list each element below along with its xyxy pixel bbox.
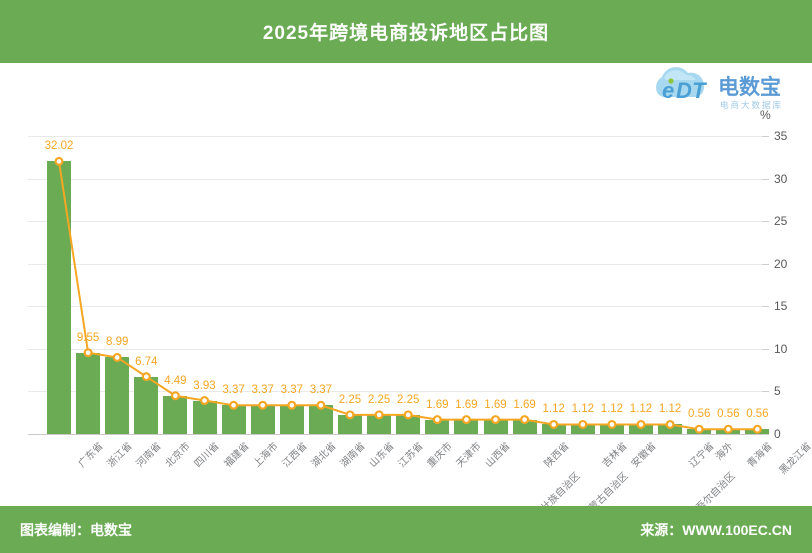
- x-axis-label: 安徽省: [627, 438, 659, 470]
- value-label: 2.25: [397, 394, 419, 406]
- bar[interactable]: [571, 424, 595, 434]
- edt-wordmark: e D T: [662, 78, 707, 103]
- bar[interactable]: [193, 401, 217, 434]
- value-label: 0.56: [746, 408, 768, 420]
- value-label: 3.37: [251, 384, 273, 396]
- bar[interactable]: [658, 424, 682, 434]
- bar[interactable]: [309, 405, 333, 434]
- value-label: 1.69: [513, 399, 535, 411]
- x-axis-label: 湖北省: [307, 438, 339, 470]
- x-axis-labels: 广东省浙江省河南省北京市四川省福建省上海市江西省湖北省湖南省山东省江苏省重庆市天…: [0, 436, 812, 502]
- value-label: 6.74: [135, 356, 157, 368]
- x-axis-label: 广东省: [74, 438, 106, 470]
- footer-compiled-by: 图表编制：电数宝: [20, 520, 132, 540]
- logo-tagline-text: 电商大数据库: [720, 100, 783, 111]
- chart-page: 2025年跨境电商投诉地区占比图 e D T 电数宝 电商大数据库 % 0510…: [0, 0, 812, 553]
- bar[interactable]: [76, 353, 100, 434]
- x-axis-label: 黑龙江省: [775, 438, 812, 477]
- x-axis-label: 江苏省: [394, 438, 426, 470]
- bar[interactable]: [163, 396, 187, 434]
- x-axis-label: 上海市: [248, 438, 280, 470]
- bar[interactable]: [513, 420, 537, 434]
- x-axis-label: 海外: [711, 438, 736, 463]
- value-label: 3.37: [310, 384, 332, 396]
- bar[interactable]: [47, 161, 71, 434]
- logo-brand-text: 电数宝: [718, 75, 781, 99]
- bar[interactable]: [425, 420, 449, 434]
- value-label: 3.37: [222, 384, 244, 396]
- value-label: 1.12: [572, 403, 594, 415]
- svg-text:T: T: [692, 78, 707, 103]
- value-label: 3.93: [193, 380, 215, 392]
- bar[interactable]: [542, 424, 566, 434]
- bar[interactable]: [687, 429, 711, 434]
- x-axis-label: 河南省: [132, 438, 164, 470]
- x-axis-label: 四川省: [190, 438, 222, 470]
- value-label: 0.56: [717, 408, 739, 420]
- value-label: 2.25: [368, 394, 390, 406]
- chart-plot-area: % 05101520253035 32.029.558.996.744.493.…: [0, 120, 812, 450]
- edt-logo: e D T 电数宝 电商大数据库: [640, 64, 800, 116]
- value-label: 1.69: [484, 399, 506, 411]
- value-label: 1.12: [542, 403, 564, 415]
- value-label: 1.69: [426, 399, 448, 411]
- x-axis-label: 山西省: [481, 438, 513, 470]
- bar[interactable]: [367, 415, 391, 434]
- svg-text:D: D: [676, 78, 692, 103]
- x-axis-label: 北京市: [161, 438, 193, 470]
- x-axis-label: 吉林省: [598, 438, 630, 470]
- x-axis-label: 江西省: [277, 438, 309, 470]
- bar[interactable]: [280, 405, 304, 434]
- value-label: 1.69: [455, 399, 477, 411]
- chart-footer-banner: 图表编制：电数宝 来源：WWW.100EC.CN: [0, 506, 812, 553]
- bar[interactable]: [134, 377, 158, 434]
- bar[interactable]: [745, 429, 769, 434]
- bar[interactable]: [105, 357, 129, 434]
- value-label: 4.49: [164, 375, 186, 387]
- value-label: 3.37: [281, 384, 303, 396]
- bar[interactable]: [454, 420, 478, 434]
- bar[interactable]: [600, 424, 624, 434]
- value-label: 2.25: [339, 394, 361, 406]
- bar[interactable]: [716, 429, 740, 434]
- bar[interactable]: [251, 405, 275, 434]
- value-label: 32.02: [45, 140, 74, 152]
- x-axis-label: 陕西省: [539, 438, 571, 470]
- bar[interactable]: [629, 424, 653, 434]
- x-axis-label: 福建省: [219, 438, 251, 470]
- value-label: 9.55: [77, 332, 99, 344]
- x-axis-label: 浙江省: [103, 438, 135, 470]
- value-label: 0.56: [688, 408, 710, 420]
- value-label: 1.12: [601, 403, 623, 415]
- value-label: 1.12: [659, 403, 681, 415]
- x-axis-label: 天津市: [452, 438, 484, 470]
- footer-source: 来源：WWW.100EC.CN: [640, 520, 792, 540]
- bar[interactable]: [396, 415, 420, 434]
- bar[interactable]: [222, 405, 246, 434]
- x-axis-label: 重庆市: [423, 438, 455, 470]
- value-label: 8.99: [106, 336, 128, 348]
- value-label: 1.12: [630, 403, 652, 415]
- chart-header-banner: 2025年跨境电商投诉地区占比图: [0, 0, 812, 63]
- x-axis-label: 湖南省: [336, 438, 368, 470]
- bar[interactable]: [338, 415, 362, 434]
- x-axis-label: 青海省: [743, 438, 775, 470]
- x-axis-label: 山东省: [365, 438, 397, 470]
- bar[interactable]: [484, 420, 508, 434]
- page-title: 2025年跨境电商投诉地区占比图: [263, 18, 549, 45]
